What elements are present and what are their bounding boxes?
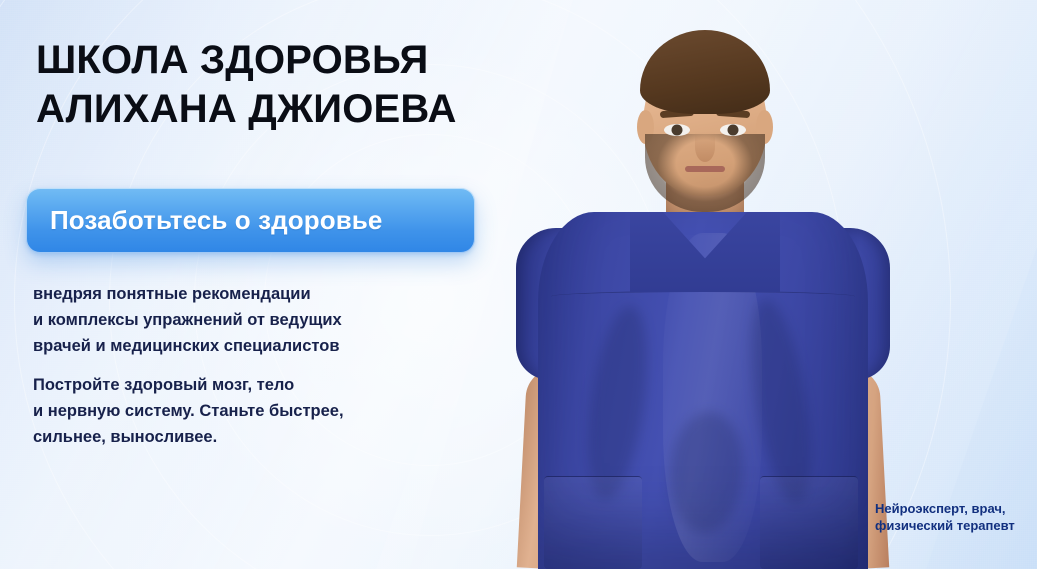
left-iris <box>672 125 683 136</box>
right-pocket <box>760 476 858 569</box>
left-pocket <box>544 476 642 569</box>
fabric-fold <box>577 302 657 504</box>
copy-column: ШКОЛА ЗДОРОВЬЯ АЛИХАНА ДЖИОЕВА Позаботьт… <box>0 0 540 569</box>
left-eye <box>664 124 690 136</box>
nose <box>695 132 715 162</box>
page-title: ШКОЛА ЗДОРОВЬЯ АЛИХАНА ДЖИОЕВА <box>36 36 516 134</box>
hair <box>640 30 770 114</box>
cta-button-label: Позаботьтесь о здоровье <box>50 205 382 236</box>
subject-credentials-caption: Нейроэксперт, врач, физический терапевт <box>875 500 1035 534</box>
shoulder-seam <box>551 291 855 302</box>
subject-photo <box>470 0 940 569</box>
promo-banner: ШКОЛА ЗДОРОВЬЯ АЛИХАНА ДЖИОЕВА Позаботьт… <box>0 0 1037 569</box>
mouth <box>685 166 725 172</box>
description-paragraph-2: Постройте здоровый мозг, тело и нервную … <box>33 372 503 450</box>
right-iris <box>728 125 739 136</box>
right-eye <box>720 124 746 136</box>
take-care-of-health-button[interactable]: Позаботьтесь о здоровье <box>26 188 475 253</box>
description-paragraph-1: внедряя понятные рекомендации и комплекс… <box>33 281 503 359</box>
